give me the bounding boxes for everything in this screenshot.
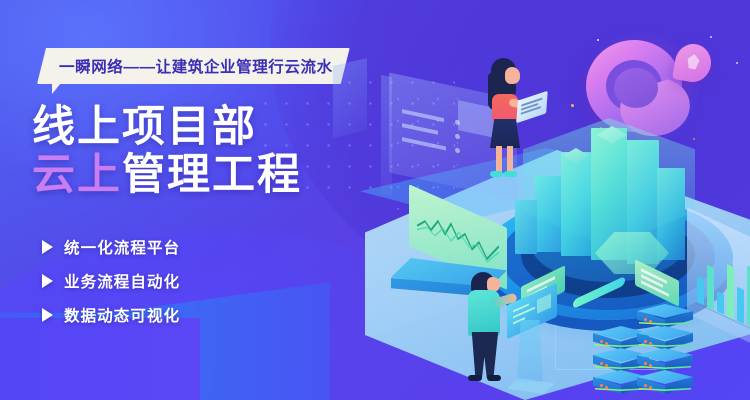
server-rack-stack-icon [593,280,723,400]
shirt [468,290,500,336]
tagline-badge: 一瞬网络——让建筑企业管理行云流水 [37,48,350,84]
server-unit [637,326,693,348]
server-indicator [600,340,603,343]
server-indicator [644,362,647,365]
console-body [517,320,543,382]
server-indicator [649,386,652,389]
leg [507,146,513,174]
feature-label: 业务流程自动化 [64,270,180,292]
tagline-text: 一瞬网络——让建筑企业管理行云流水 [59,55,333,77]
chart-bar [737,287,744,324]
card-dot [455,119,460,125]
translucent-dashboard-cards [333,58,367,138]
feature-label: 数据动态可视化 [64,304,180,326]
server-indicator [644,384,647,387]
server-indicator [605,364,608,367]
server-indicator [605,342,608,345]
screen-block [537,294,551,314]
headline-rest-text: 管理工程 [122,151,302,199]
server-indicator [649,320,652,323]
card-dot [455,133,460,139]
tablet-icon [516,91,547,124]
server-unit [637,304,693,326]
card-line [402,109,444,121]
tagline-badge-tail [52,83,66,94]
leg [496,146,502,174]
page-title: 线上项目部 云上管理工程 [32,104,302,199]
list-item: 统一化流程平台 [42,236,180,258]
pin-glyph [686,53,700,70]
triangle-right-icon [42,274,53,288]
server-indicator [600,362,603,365]
server-indicator [644,340,647,343]
shoe [504,171,517,177]
headline-line-1: 线上项目部 [32,104,302,150]
card-line [402,137,446,150]
server-indicator [649,364,652,367]
server-indicator [605,386,608,389]
shoe [487,375,501,381]
server-unit [637,348,693,370]
feature-list: 统一化流程平台 业务流程自动化 数据动态可视化 [42,236,180,338]
card-dot [455,147,460,153]
logo-inner-disc [614,68,658,108]
server-indicator [644,318,647,321]
chart-bar [727,264,734,319]
shoe [490,171,503,177]
server-unit [637,370,693,392]
line-chart-icon [417,204,499,269]
marketing-banner: 一瞬网络——让建筑企业管理行云流水 线上项目部 云上管理工程 统一化流程平台 业… [0,0,750,400]
control-console [503,294,559,390]
card-line [402,123,438,134]
server-indicator [649,342,652,345]
headline-accent-text: 云上 [32,151,122,199]
server-indicator [600,384,603,387]
list-item: 业务流程自动化 [42,270,180,292]
triangle-right-icon [42,308,53,322]
legs [470,332,500,378]
triangle-right-icon [42,240,53,254]
shoe [468,375,482,381]
skirt [490,119,520,148]
face [505,67,520,84]
list-item: 数据动态可视化 [42,304,180,326]
headline-line-2: 云上管理工程 [32,152,302,198]
hero-illustration [355,0,750,400]
man-at-console-figure [463,272,543,390]
feature-label: 统一化流程平台 [64,236,180,258]
